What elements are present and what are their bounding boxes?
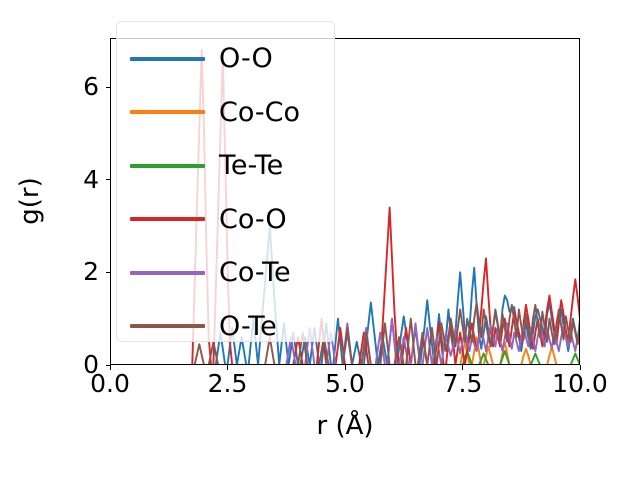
y-tick-mark <box>106 272 111 273</box>
legend-swatch-co-te <box>130 271 205 275</box>
y-tick-label: 0 <box>83 352 99 378</box>
legend-label-te-te: Te-Te <box>219 152 283 179</box>
x-tick-label: 7.5 <box>443 371 483 397</box>
x-tick-label: 10.0 <box>552 371 608 397</box>
legend-swatch-o-o <box>130 57 205 61</box>
legend-item-o-o[interactable]: O-O <box>117 32 334 86</box>
legend-label-o-te: O-Te <box>219 313 277 340</box>
legend-item-o-te[interactable]: O-Te <box>117 300 334 354</box>
legend-label-co-te: Co-Te <box>219 259 291 286</box>
y-tick-mark <box>106 87 111 88</box>
legend-swatch-o-te <box>130 324 205 328</box>
x-axis-label: r (Å) <box>316 411 373 441</box>
legend-label-co-co: Co-Co <box>219 99 300 126</box>
legend-box: O-OCo-CoTe-TeCo-OCo-TeO-Te <box>116 21 335 342</box>
y-tick-mark <box>106 365 111 366</box>
legend-item-te-te[interactable]: Te-Te <box>117 139 334 193</box>
x-tick-label: 2.5 <box>208 371 248 397</box>
y-tick-label: 4 <box>83 167 99 193</box>
legend-label-o-o: O-O <box>219 45 273 72</box>
x-tick-label: 5.0 <box>325 371 365 397</box>
legend-swatch-te-te <box>130 164 205 168</box>
y-tick-mark <box>106 179 111 180</box>
legend-swatch-co-co <box>130 110 205 114</box>
y-tick-label: 6 <box>83 74 99 100</box>
figure-canvas: 0.02.55.07.510.00246 r (Å) g(r) O-OCo-Co… <box>0 0 640 480</box>
legend-item-co-co[interactable]: Co-Co <box>117 86 334 140</box>
legend-swatch-co-o <box>130 217 205 221</box>
y-tick-label: 2 <box>83 259 99 285</box>
y-axis-label: g(r) <box>15 177 45 224</box>
legend-item-co-o[interactable]: Co-O <box>117 193 334 247</box>
legend-label-co-o: Co-O <box>219 206 287 233</box>
legend-item-co-te[interactable]: Co-Te <box>117 246 334 300</box>
